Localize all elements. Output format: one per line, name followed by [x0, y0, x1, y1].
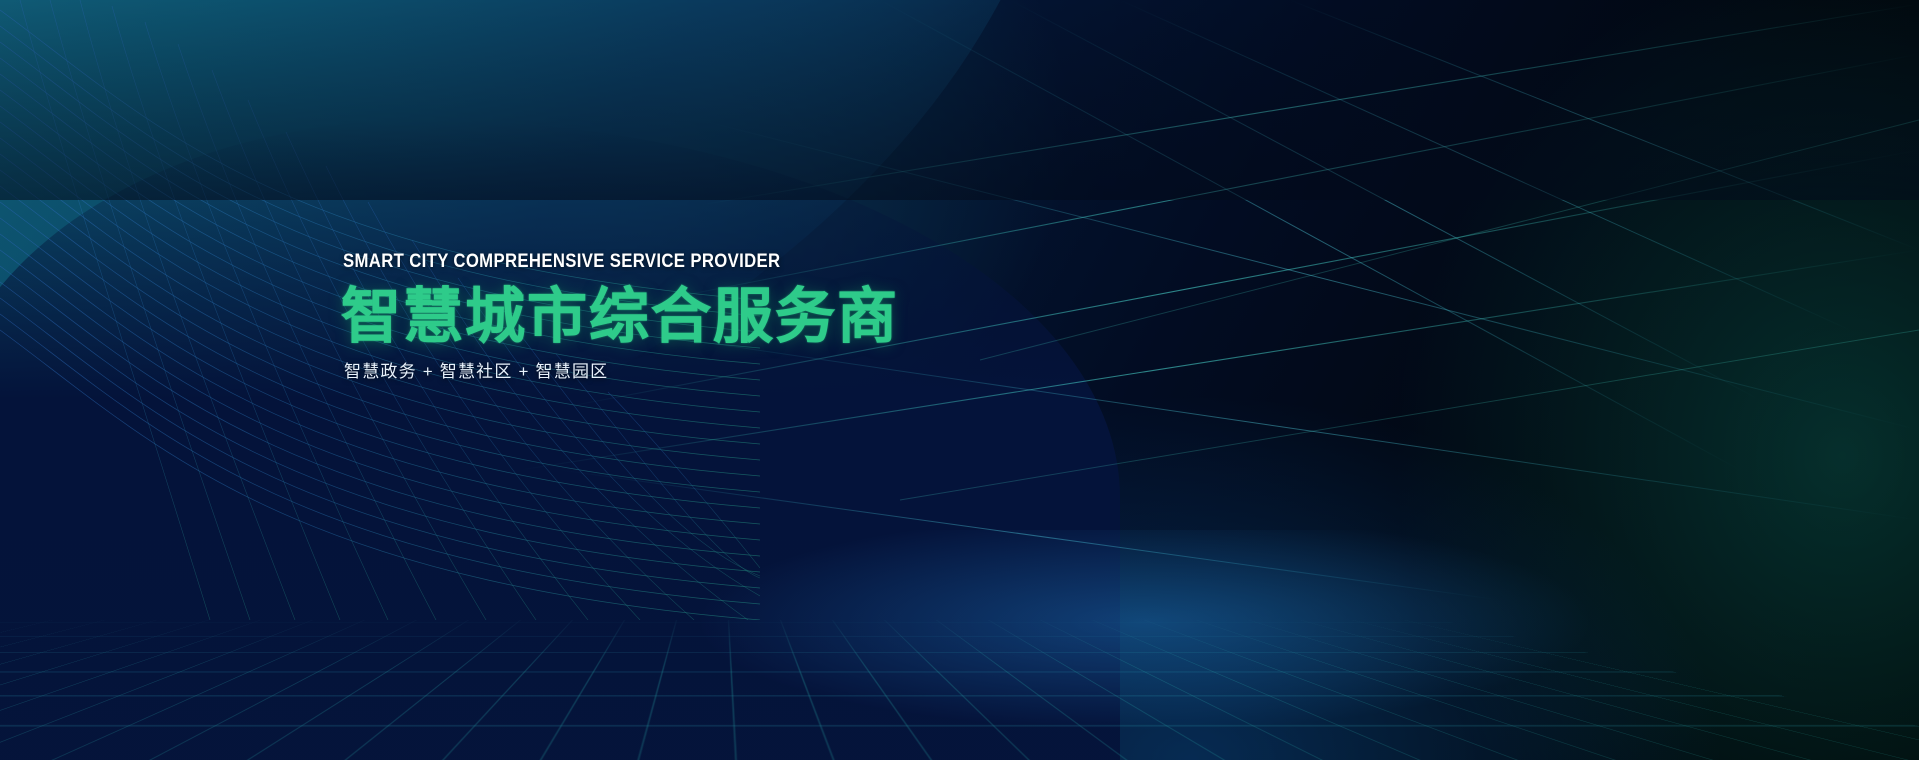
hero-headline-chinese: 智慧城市综合服务商 — [341, 287, 1101, 347]
smart-city-hero-banner: SMART CITY COMPREHENSIVE SERVICE PROVIDE… — [0, 0, 1919, 760]
hero-eyebrow-english: SMART CITY COMPREHENSIVE SERVICE PROVIDE… — [343, 252, 1010, 271]
hero-copy-block: SMART CITY COMPREHENSIVE SERVICE PROVIDE… — [341, 252, 1101, 380]
hero-subline-services: 智慧政务 + 智慧社区 + 智慧园区 — [344, 363, 1101, 380]
perspective-ground-grid — [0, 620, 1919, 760]
